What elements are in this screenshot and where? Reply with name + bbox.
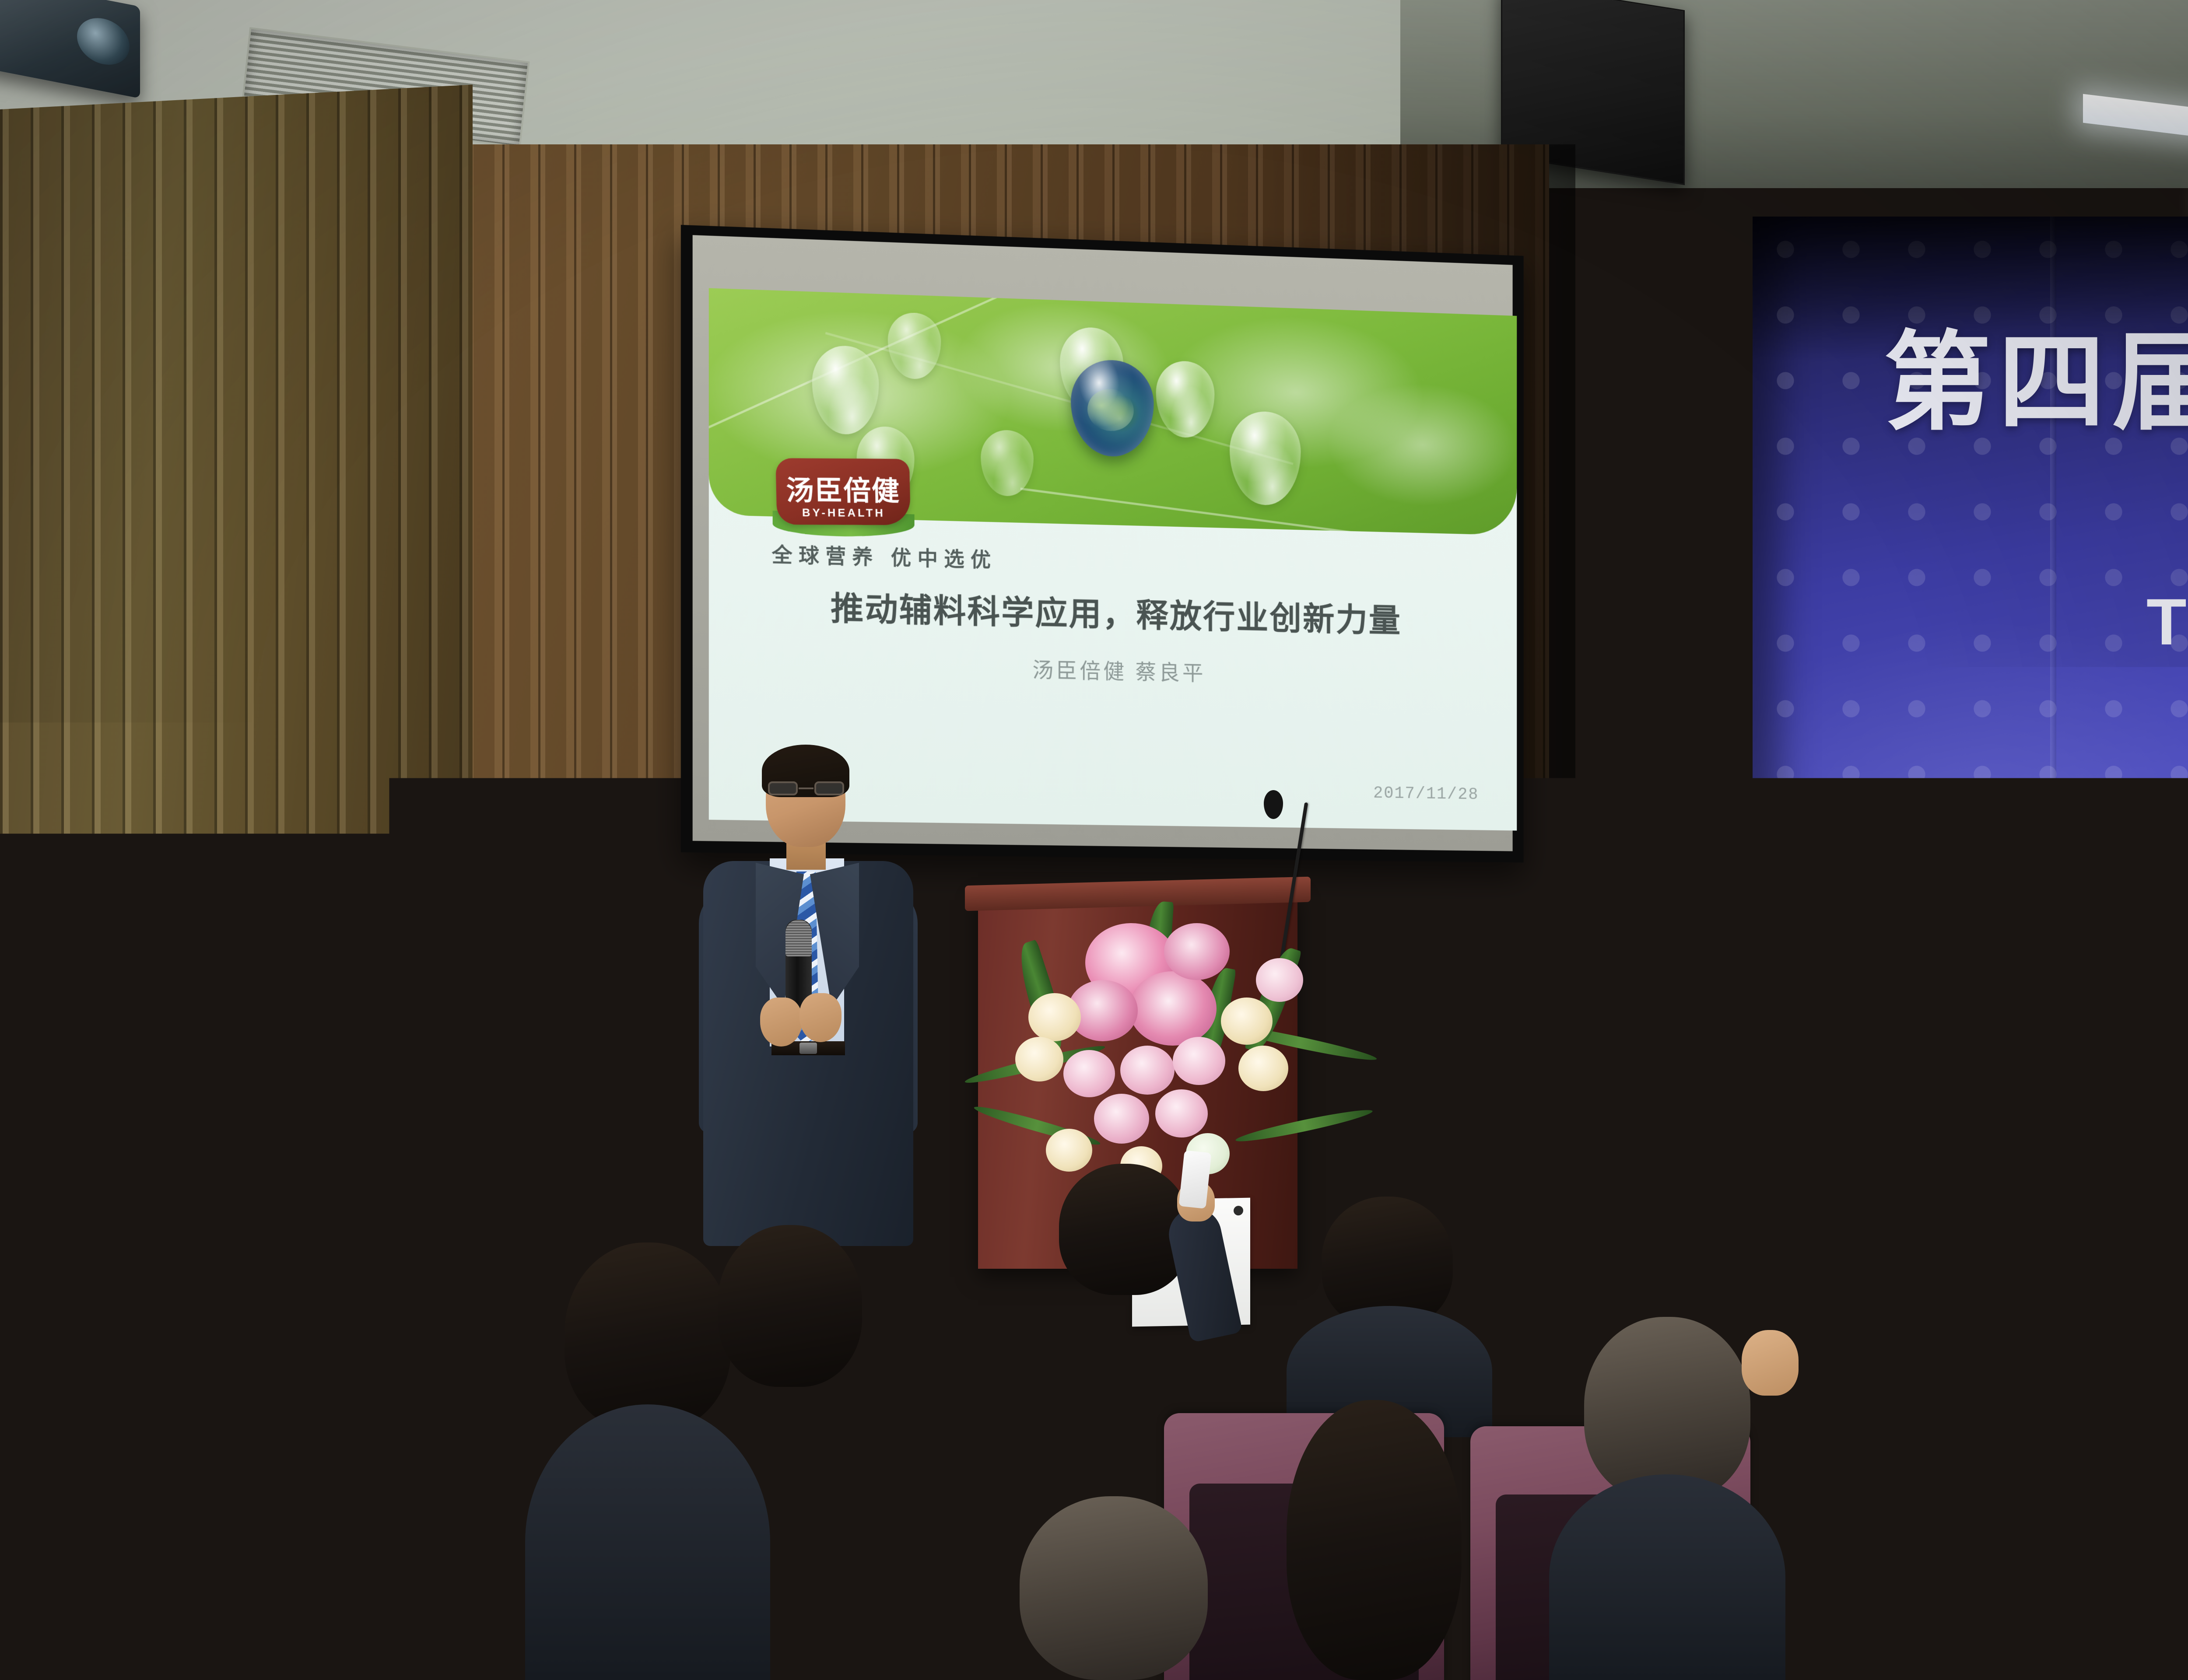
- audience-head: [1855, 1400, 2039, 1645]
- audience-head: [1575, 1181, 1707, 1339]
- logo-plate: 汤臣倍健 BY-HEALTH: [775, 458, 911, 525]
- event-backdrop-banner: 第四届 运 The 4th Chi 指导机 主办单 协办单: [1753, 217, 2188, 1087]
- presenter-hand-right: [799, 993, 842, 1042]
- presenter-hand-left: [760, 997, 802, 1046]
- slide-date: 2017/11/28: [1373, 784, 1479, 804]
- theater-seat[interactable]: [2083, 1426, 2188, 1680]
- audience-head: [565, 1242, 731, 1431]
- earth-globe-icon: [1071, 359, 1154, 458]
- slide-title: 推动辅料科学应用，释放行业创新力量: [709, 579, 1517, 644]
- presenter-speaker: [676, 744, 939, 1247]
- audience-head: [718, 1225, 862, 1387]
- smartphone: [1178, 1150, 1211, 1209]
- audience-shoulders: [254, 1479, 481, 1680]
- slide-author: 汤臣倍健 蔡良平: [709, 646, 1517, 692]
- audience-head: [1287, 1400, 1462, 1680]
- audience-shoulders: [1549, 1474, 1785, 1680]
- audience-head: [118, 1282, 280, 1466]
- conference-hall-scene: 第四届 运 The 4th Chi 指导机 主办单 协办单: [0, 0, 2188, 1680]
- projector-lens-icon: [77, 14, 130, 69]
- audience-head: [35, 1461, 219, 1680]
- banner-headline-en: The 4th Chi: [2146, 584, 2188, 660]
- ceiling-projector: [0, 0, 140, 98]
- logo-text-cn: 汤臣倍健: [776, 468, 911, 508]
- banner-headline-cn: 第四届: [1884, 295, 2188, 451]
- byhealth-logo: 汤臣倍健 BY-HEALTH: [776, 457, 910, 527]
- audience-head: [1584, 1317, 1750, 1501]
- slide-slogan: 全球营养 优中选优: [772, 539, 997, 573]
- eyeglasses-icon: [767, 781, 845, 796]
- logo-text-en: BY-HEALTH: [777, 506, 911, 520]
- audience-head: [1020, 1496, 1208, 1680]
- audience-shoulders: [525, 1404, 770, 1680]
- water-bottle: [1637, 1081, 1658, 1137]
